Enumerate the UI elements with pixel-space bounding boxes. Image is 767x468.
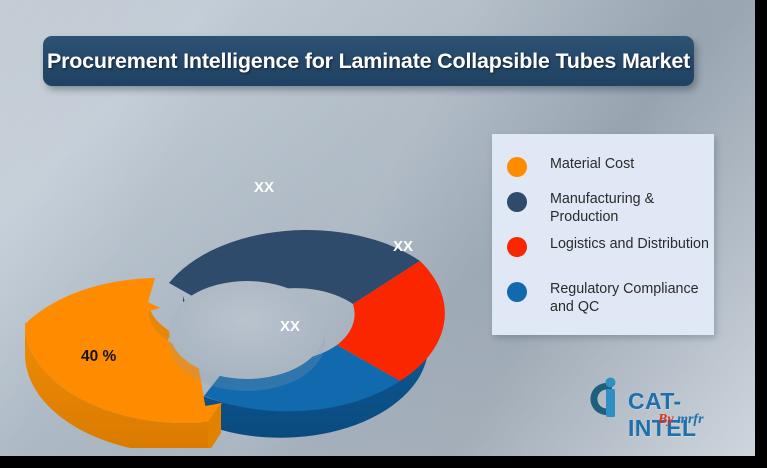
- legend-label: Regulatory Compliance and QC: [550, 281, 714, 316]
- logo-brand-text: mrfr: [677, 412, 703, 427]
- legend-label: Logistics and Distribution: [550, 236, 709, 254]
- donut-chart: 40 % XX XX XX: [8, 128, 478, 448]
- cat-intel-mark-icon: [586, 376, 626, 422]
- legend-swatch-icon: [507, 157, 527, 177]
- brand-logo[interactable]: CAT-INTEL By mrfr: [586, 374, 736, 432]
- legend-label: Material Cost: [550, 156, 634, 174]
- legend-item-regulatory-compliance-qc[interactable]: Regulatory Compliance and QC: [507, 281, 714, 316]
- legend-label: Manufacturing & Production: [550, 191, 714, 226]
- legend-item-manufacturing-production[interactable]: Manufacturing & Production: [507, 191, 714, 226]
- page-title: Procurement Intelligence for Laminate Co…: [47, 49, 690, 74]
- slide-canvas: Procurement Intelligence for Laminate Co…: [0, 0, 755, 456]
- legend-swatch-icon: [507, 237, 527, 257]
- slice-value-regulatory: XX: [280, 318, 300, 335]
- donut-hole-top: [169, 281, 325, 379]
- legend-item-material-cost[interactable]: Material Cost: [507, 156, 634, 177]
- donut-chart-svg: 40 % XX XX XX: [8, 128, 478, 448]
- logo-by-text: By: [658, 412, 674, 427]
- legend-swatch-icon: [507, 192, 527, 212]
- legend-item-logistics-distribution[interactable]: Logistics and Distribution: [507, 236, 709, 257]
- title-bar: Procurement Intelligence for Laminate Co…: [43, 36, 694, 86]
- legend-swatch-icon: [507, 282, 527, 302]
- slice-value-manufacturing: XX: [254, 179, 274, 196]
- slice-value-logistics: XX: [393, 238, 413, 255]
- logo-subtext: By mrfr: [658, 412, 704, 428]
- slice-value-material: 40 %: [81, 348, 117, 365]
- chart-legend: Material Cost Manufacturing & Production…: [492, 134, 714, 335]
